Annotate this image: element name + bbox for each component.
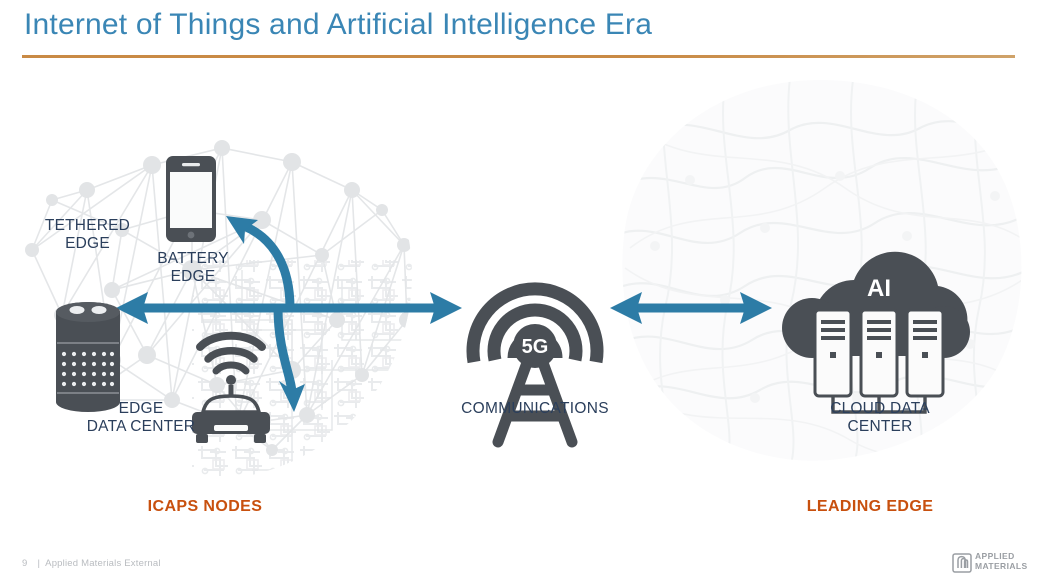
- caption-icaps-nodes: ICAPS NODES: [110, 498, 300, 516]
- logo-line-1: APPLIED: [975, 551, 1028, 561]
- footer-separator: |: [37, 558, 40, 569]
- smartphone-icon: [166, 156, 216, 242]
- footer: 9|Applied Materials External: [22, 558, 161, 569]
- page-title: Internet of Things and Artificial Intell…: [24, 8, 652, 42]
- cloud-servers-icon: AI: [782, 252, 970, 412]
- 5g-badge-text: 5G: [522, 336, 549, 358]
- label-tethered-edge: TETHERED EDGE: [20, 217, 155, 253]
- ai-badge-text: AI: [867, 275, 891, 302]
- label-cloud-data-center: CLOUD DATA CENTER: [785, 400, 975, 436]
- smart-speaker-icon: [56, 302, 120, 412]
- footer-classification: Applied Materials External: [45, 558, 161, 569]
- applied-materials-logo-text: APPLIED MATERIALS: [975, 551, 1028, 571]
- cell-tower-icon: 5G: [473, 289, 597, 442]
- label-battery-edge: BATTERY EDGE: [128, 250, 258, 286]
- slide-canvas: Internet of Things and Artificial Intell…: [0, 0, 1037, 582]
- title-underline-rule: [22, 55, 1015, 58]
- caption-leading-edge: LEADING EDGE: [775, 498, 965, 516]
- label-edge-data-center: EDGE DATA CENTER: [50, 400, 232, 436]
- connector-communications-to-cloud: [610, 292, 772, 324]
- label-communications: COMMUNICATIONS: [425, 400, 645, 418]
- footer-page-number: 9: [22, 558, 27, 569]
- logo-line-2: MATERIALS: [975, 561, 1028, 571]
